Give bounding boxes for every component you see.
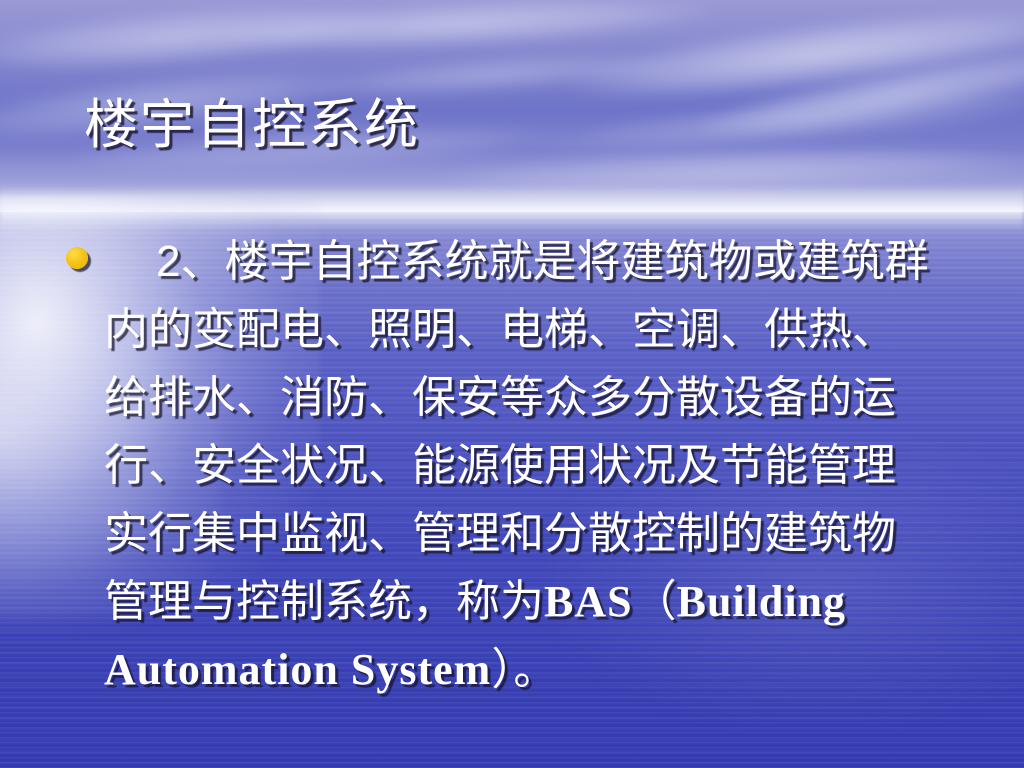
body-line: Automation System）。 xyxy=(104,636,990,704)
body-line-latin-part: Building xyxy=(677,577,846,626)
body-line-period: 。 xyxy=(513,645,557,694)
body-paragraph: 2、楼宇自控系统就是将建筑物或建筑群 内的变配电、照明、电梯、空调、供热、 给排… xyxy=(104,228,990,704)
body-line-acronym: BAS xyxy=(544,577,633,626)
slide-body: 2、楼宇自控系统就是将建筑物或建筑群 内的变配电、照明、电梯、空调、供热、 给排… xyxy=(60,228,990,704)
body-line: 实行集中监视、管理和分散控制的建筑物 xyxy=(104,500,990,568)
bullet-point-icon xyxy=(66,247,88,269)
bullet-paragraph: 2、楼宇自控系统就是将建筑物或建筑群 内的变配电、照明、电梯、空调、供热、 给排… xyxy=(60,228,990,704)
body-line: 给排水、消防、保安等众多分散设备的运 xyxy=(104,364,990,432)
body-line: 2、楼宇自控系统就是将建筑物或建筑群 xyxy=(104,228,990,296)
body-line-latin-part: Automation System xyxy=(104,645,491,694)
body-line-bracket-open: （ xyxy=(633,577,677,626)
presentation-slide: 楼宇自控系统 2、楼宇自控系统就是将建筑物或建筑群 内的变配电、照明、电梯、空调… xyxy=(0,0,1024,768)
body-line-bracket-close: ） xyxy=(491,645,513,694)
body-line: 行、安全状况、能源使用状况及节能管理 xyxy=(104,432,990,500)
slide-title: 楼宇自控系统 xyxy=(84,96,944,154)
body-line: 内的变配电、照明、电梯、空调、供热、 xyxy=(104,296,990,364)
body-line-cjk-part: 管理与控制系统，称为 xyxy=(104,577,544,626)
body-line: 管理与控制系统，称为BAS（Building xyxy=(104,568,990,636)
